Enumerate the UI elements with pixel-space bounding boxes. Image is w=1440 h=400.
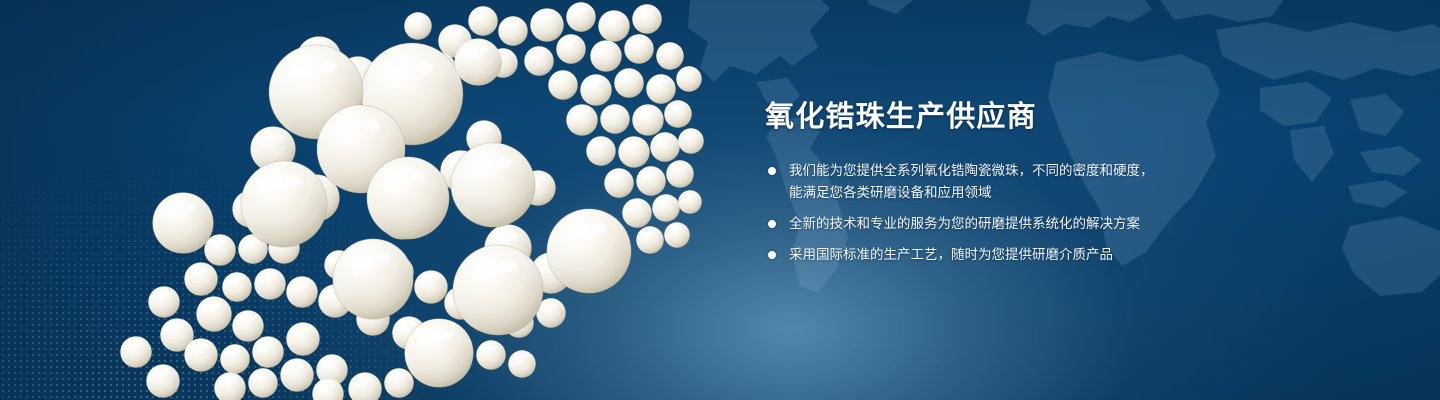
bullet-text-line1: 全新的技术和专业的服务为您的研磨提供系统化的解决方案 bbox=[789, 216, 1140, 231]
banner-copy: 氧化锆珠生产供应商 我们能为您提供全系列氧化锆陶瓷微珠，不同的密度和硬度， 能满… bbox=[765, 102, 1235, 266]
banner-bullet-item: 采用国际标准的生产工艺，随时为您提供研磨介质产品 bbox=[765, 244, 1235, 266]
bullet-dot-icon bbox=[768, 220, 776, 228]
product-banner: 氧化锆珠生产供应商 我们能为您提供全系列氧化锆陶瓷微珠，不同的密度和硬度， 能满… bbox=[0, 0, 1440, 400]
banner-headline: 氧化锆珠生产供应商 bbox=[765, 102, 1235, 134]
banner-bullet-item: 我们能为您提供全系列氧化锆陶瓷微珠，不同的密度和硬度， 能满足您各类研磨设备和应… bbox=[765, 160, 1235, 204]
banner-bullet-list: 我们能为您提供全系列氧化锆陶瓷微珠，不同的密度和硬度， 能满足您各类研磨设备和应… bbox=[765, 160, 1235, 266]
bullet-text-line2: 能满足您各类研磨设备和应用领域 bbox=[789, 182, 1235, 204]
halftone-dot-pattern bbox=[0, 100, 420, 400]
bullet-text-line1: 采用国际标准的生产工艺，随时为您提供研磨介质产品 bbox=[789, 247, 1113, 262]
banner-bullet-item: 全新的技术和专业的服务为您的研磨提供系统化的解决方案 bbox=[765, 213, 1235, 235]
bullet-dot-icon bbox=[768, 251, 776, 259]
bullet-text-line1: 我们能为您提供全系列氧化锆陶瓷微珠，不同的密度和硬度， bbox=[789, 163, 1154, 178]
bullet-dot-icon bbox=[768, 167, 776, 175]
